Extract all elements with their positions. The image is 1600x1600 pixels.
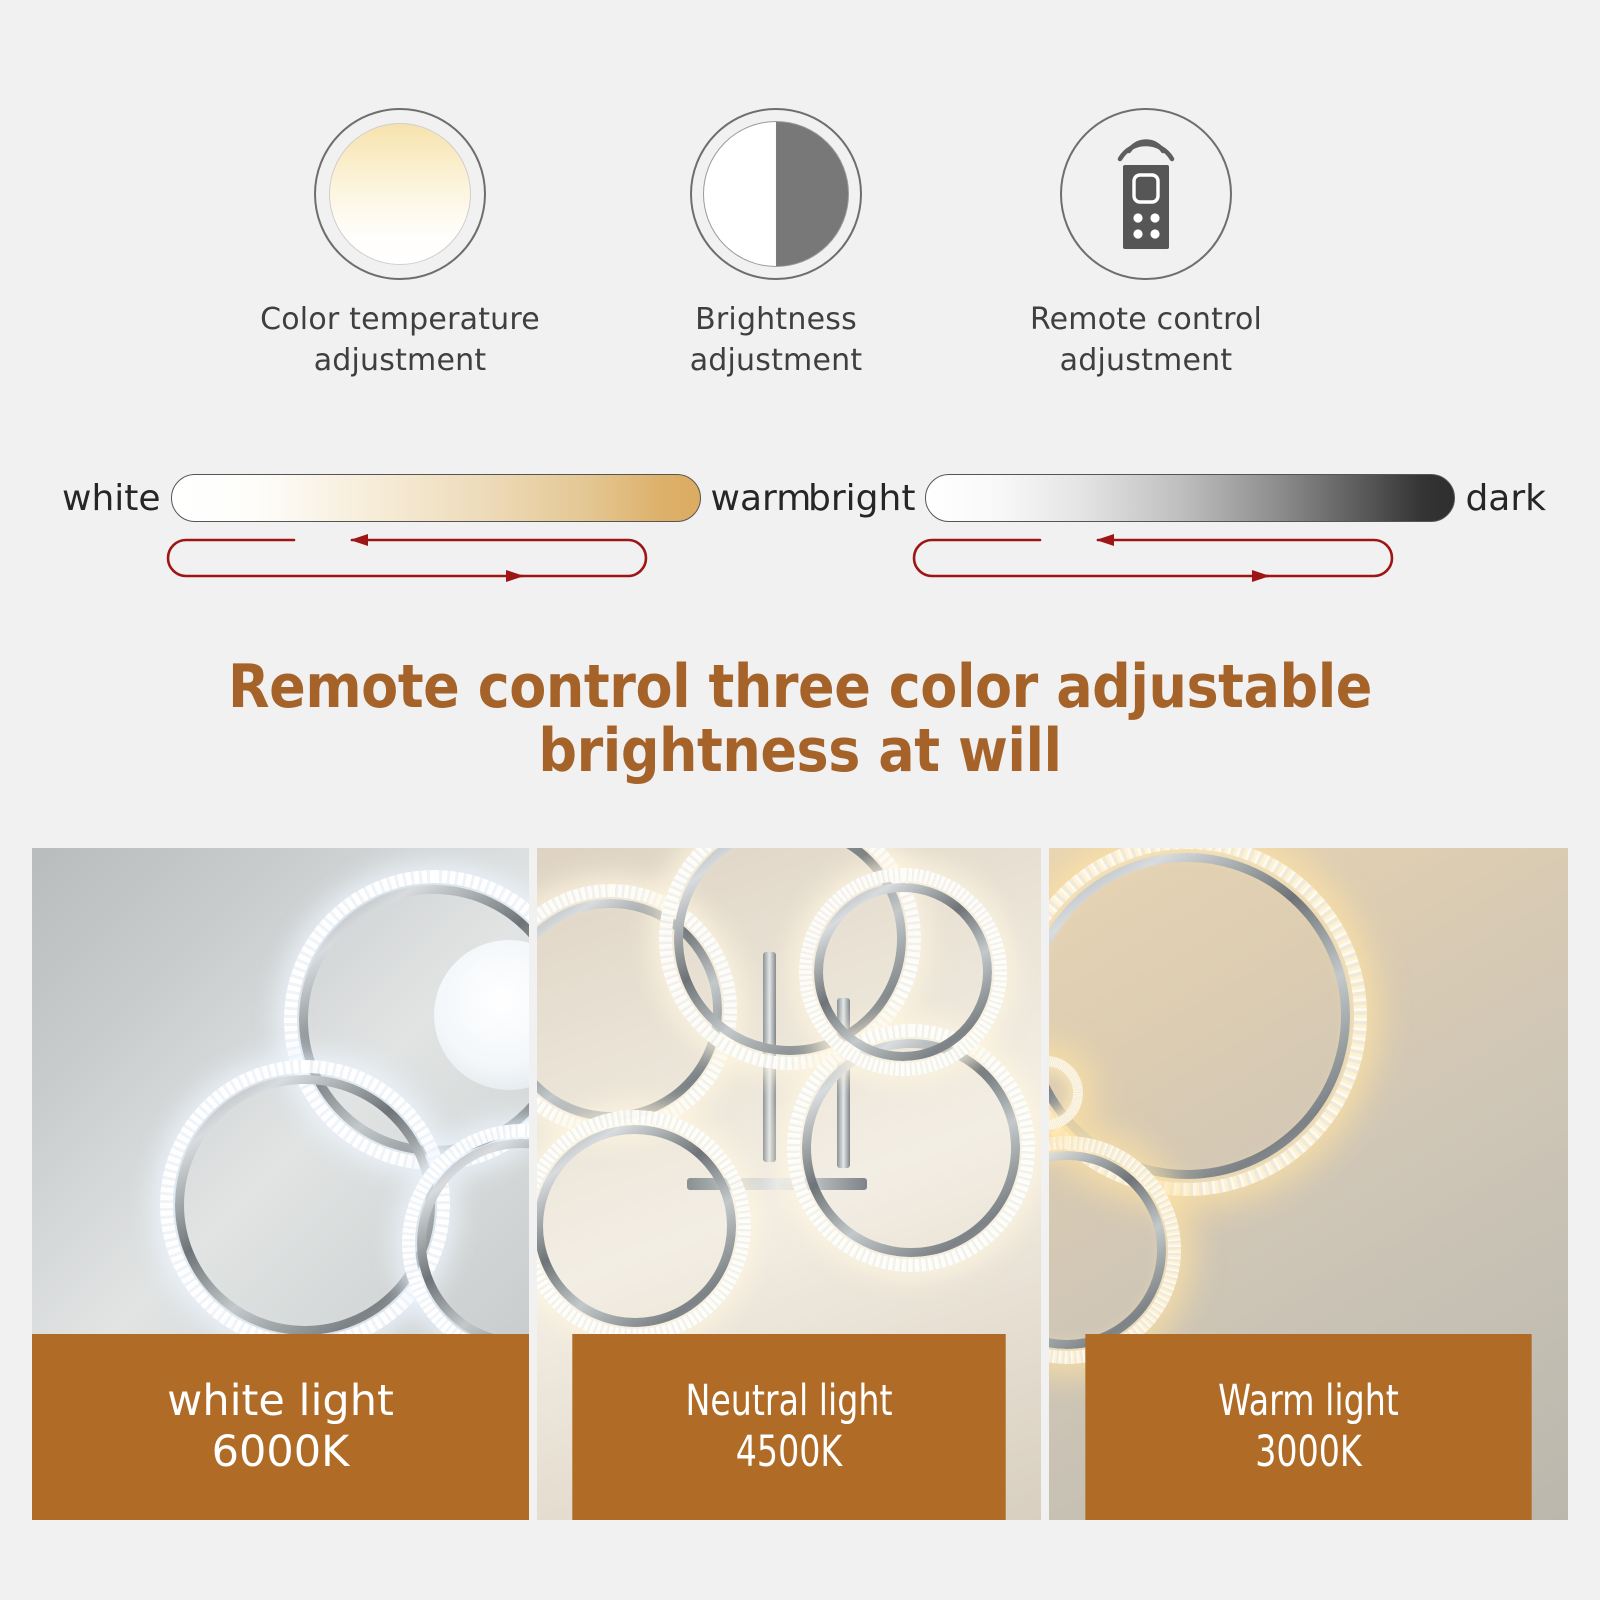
warm-light-caption: Warm light 3000K [1085,1334,1531,1520]
color-temperature-disc-icon [314,108,486,280]
caption-title: Warm light [1218,1376,1399,1427]
feature-label-brightness: Brightness adjustment [690,300,863,381]
slider-label-warm: warm [711,478,812,519]
caption-kelvin: 3000K [1255,1427,1361,1478]
product-photo-panels: white light 6000K [32,848,1568,1520]
slider-label-dark: dark [1465,478,1546,519]
half-light-dark-disc [703,121,849,267]
slider-label-white: white [62,478,161,519]
white-light-panel[interactable]: white light 6000K [32,848,529,1520]
brightness-slider[interactable]: bright dark [808,462,1546,591]
remote-control-icon [1060,108,1232,280]
feature-remote-control: Remote control adjustment [996,108,1296,381]
caption-kelvin: 4500K [736,1427,842,1478]
crystal-ring [537,1110,751,1342]
crystal-ring [799,868,1007,1076]
slider-label-bright: bright [808,478,915,519]
warm-light-panel[interactable]: Warm light 3000K [1049,848,1568,1520]
feature-label-color-temperature: Color temperature adjustment [260,300,540,381]
neutral-light-panel[interactable]: Neutral light 4500K [537,848,1041,1520]
brightness-gradient-bar[interactable] [925,474,1455,522]
color-temperature-cycle-arrow [162,530,811,591]
brightness-cycle-arrow [908,530,1546,591]
slider-zone: white warm bright dark [0,462,1600,602]
caption-title: Neutral light [685,1376,892,1427]
feature-icon-row: Color temperature adjustment Brightness … [0,108,1600,381]
feature-brightness: Brightness adjustment [626,108,926,381]
headline: Remote control three color adjustable br… [80,655,1520,783]
crystal-ring [160,1060,450,1350]
color-temperature-gradient-bar[interactable] [171,474,701,522]
neutral-light-caption: Neutral light 4500K [572,1334,1005,1520]
caption-title: white light [167,1376,394,1427]
feature-color-temperature: Color temperature adjustment [250,108,550,381]
remote-handset-glyph [1086,129,1206,259]
white-light-caption: white light 6000K [32,1334,529,1520]
warm-gradient-disc [329,123,471,265]
color-temperature-slider[interactable]: white warm [62,462,811,591]
feature-label-remote-control: Remote control adjustment [1030,300,1262,381]
caption-kelvin: 6000K [212,1427,350,1478]
brightness-half-disc-icon [690,108,862,280]
